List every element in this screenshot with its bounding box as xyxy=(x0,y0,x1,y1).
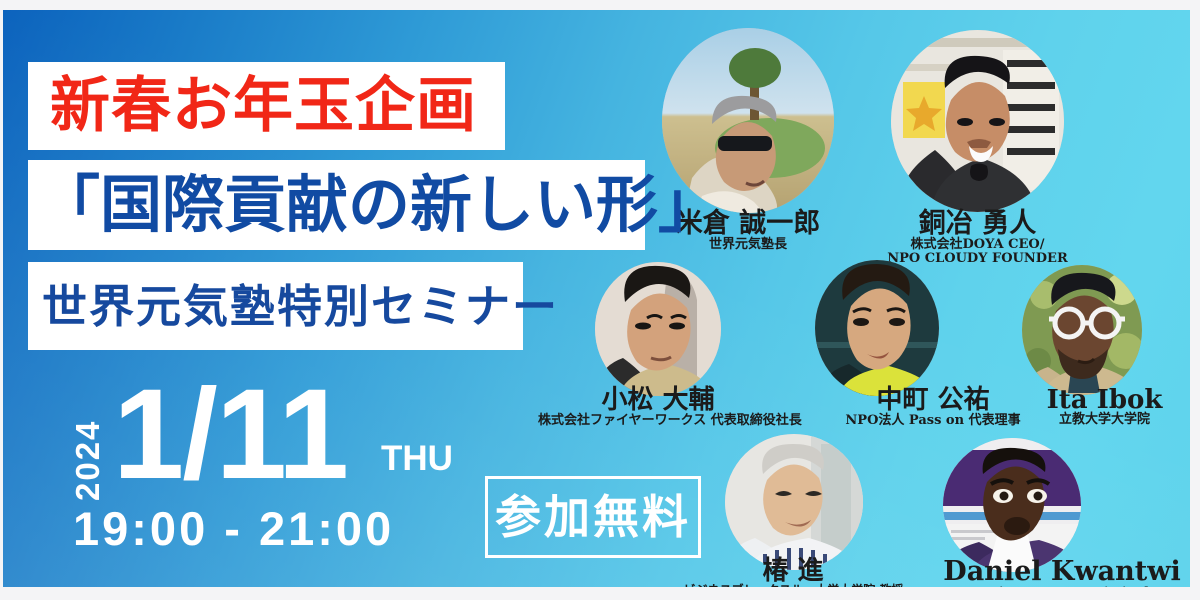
headline-campaign-text: 新春お年玉企画 xyxy=(50,76,477,136)
event-weekday: THU xyxy=(381,441,453,476)
event-time-range: 19:00 - 21:00 xyxy=(73,505,394,552)
free-admission-label: 参加無料 xyxy=(495,494,691,540)
speaker-title: 立教大学大学院 xyxy=(1022,413,1187,427)
speaker-photo-tsubaki xyxy=(725,434,863,570)
headline-box-theme: 「国際貢献の新しい形」 xyxy=(28,160,645,250)
speaker-title: TranSoniCa Company Limited CEO xyxy=(928,585,1190,587)
event-date-block: 2024 1/11 THU 19:00 - 21:00 xyxy=(63,385,483,560)
headline-box-seminar: 世界元気塾特別セミナー xyxy=(28,262,523,350)
speaker-photo-itaibok xyxy=(1022,265,1142,395)
headline-seminar-text: 世界元気塾特別セミナー xyxy=(42,284,559,329)
speaker-name: Daniel Kwantwi xyxy=(933,558,1190,586)
speaker-photo-doya xyxy=(891,30,1064,212)
headline-theme-text: 「国際貢献の新しい形」 xyxy=(38,174,720,236)
speaker-photo-kwantwi xyxy=(943,438,1081,572)
speaker-name: 椿 進 xyxy=(693,558,893,585)
event-daymonth: 1/11 xyxy=(113,371,347,499)
speaker-title: ビジネスブレークスルー大学大学院 教授 xyxy=(676,584,911,587)
speaker-name: Ita Ibok xyxy=(1022,387,1187,414)
avatar xyxy=(595,262,721,396)
seminar-poster: 新春お年玉企画 「国際貢献の新しい形」 世界元気塾特別セミナー 2024 1/1… xyxy=(3,10,1190,587)
speaker-photo-nakamachi xyxy=(815,260,939,396)
speaker-name: 小松 大輔 xyxy=(548,387,768,414)
avatar xyxy=(725,434,863,570)
avatar xyxy=(891,30,1064,212)
speaker-photo-komatsu xyxy=(595,262,721,396)
avatar xyxy=(815,260,939,396)
free-admission-badge: 参加無料 xyxy=(485,476,701,558)
speaker-name: 銅冶 勇人 xyxy=(891,210,1064,238)
event-year: 2024 xyxy=(71,391,104,501)
speaker-title: 株式会社ファイヤーワークス 代表取締役社長 xyxy=(538,414,778,428)
avatar xyxy=(1022,265,1142,395)
speaker-title: NPO法人 Pass on 代表理事 xyxy=(838,414,1028,428)
headline-box-campaign: 新春お年玉企画 xyxy=(28,62,505,150)
avatar xyxy=(943,438,1081,572)
screenshot-canvas: 新春お年玉企画 「国際貢献の新しい形」 世界元気塾特別セミナー 2024 1/1… xyxy=(0,0,1200,600)
speaker-name: 中町 公祐 xyxy=(843,387,1023,414)
